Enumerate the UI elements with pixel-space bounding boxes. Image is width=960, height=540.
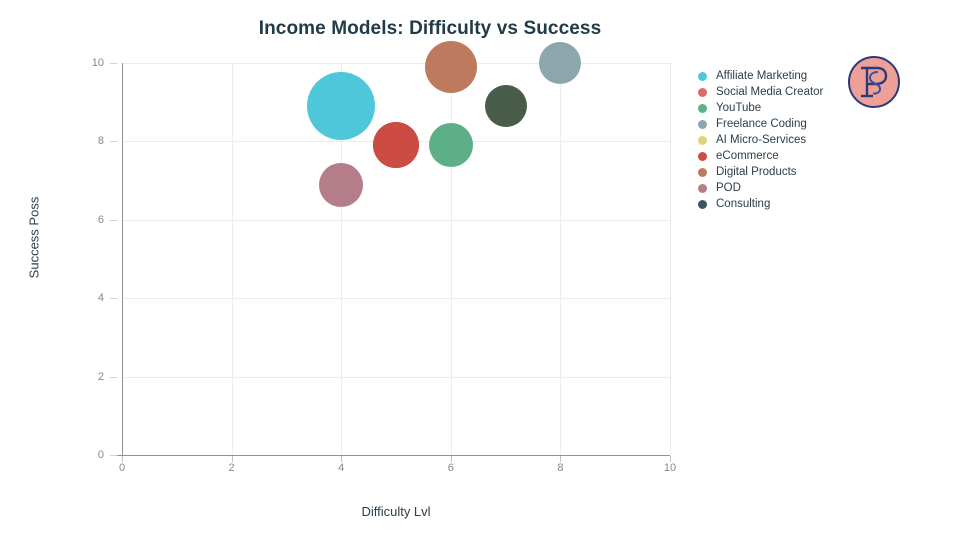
legend-item[interactable]: AI Micro-Services (698, 132, 858, 148)
legend-item[interactable]: Freelance Coding (698, 116, 858, 132)
legend-item[interactable]: Digital Products (698, 164, 858, 180)
y-tick-mark (110, 298, 117, 299)
y-tick-label: 8 (78, 135, 104, 147)
gridline-vertical (451, 63, 452, 455)
legend-item-label: Digital Products (716, 164, 797, 180)
legend-item-label: YouTube (716, 100, 761, 116)
legend-swatch-icon (698, 88, 707, 97)
legend-item-label: AI Micro-Services (716, 132, 806, 148)
gridline-vertical (560, 63, 561, 455)
legend-item[interactable]: Consulting (698, 196, 858, 212)
legend-swatch-icon (698, 136, 707, 145)
bubble-chart: Income Models: Difficulty vs Success 024… (0, 0, 960, 540)
legend-swatch-icon (698, 152, 707, 161)
legend-swatch-icon (698, 168, 707, 177)
legend-item-label: eCommerce (716, 148, 779, 164)
x-tick-mark (560, 456, 561, 462)
gridline-horizontal (122, 63, 670, 64)
x-tick-mark (232, 456, 233, 462)
bubble-point[interactable] (539, 42, 581, 84)
legend-swatch-icon (698, 200, 707, 209)
legend-item[interactable]: Affiliate Marketing (698, 68, 858, 84)
bubble-point[interactable] (429, 123, 473, 167)
y-axis-line (122, 63, 123, 455)
x-tick-mark (341, 456, 342, 462)
x-tick-label: 4 (338, 462, 344, 474)
y-tick-mark (110, 141, 117, 142)
legend-swatch-icon (698, 72, 707, 81)
legend-item[interactable]: POD (698, 180, 858, 196)
legend-item-label: POD (716, 180, 741, 196)
plot-area (122, 63, 670, 455)
legend-item[interactable]: Social Media Creator (698, 84, 858, 100)
bubble-point[interactable] (425, 41, 477, 93)
y-tick-mark (110, 220, 117, 221)
x-tick-mark (451, 456, 452, 462)
gridline-horizontal (122, 377, 670, 378)
gridline-vertical (232, 63, 233, 455)
legend-item[interactable]: eCommerce (698, 148, 858, 164)
y-tick-label: 4 (78, 292, 104, 304)
x-tick-label: 0 (119, 462, 125, 474)
bubble-point[interactable] (319, 163, 363, 207)
legend-item[interactable]: YouTube (698, 100, 858, 116)
x-tick-label: 8 (557, 462, 563, 474)
legend-item-label: Freelance Coding (716, 116, 807, 132)
y-tick-label: 2 (78, 371, 104, 383)
gridline-horizontal (122, 220, 670, 221)
x-tick-mark (122, 456, 123, 462)
x-tick-label: 2 (229, 462, 235, 474)
x-tick-label: 6 (448, 462, 454, 474)
y-tick-mark (110, 377, 117, 378)
chart-title: Income Models: Difficulty vs Success (0, 18, 860, 40)
legend-swatch-icon (698, 104, 707, 113)
x-axis-line (110, 455, 670, 456)
legend-swatch-icon (698, 184, 707, 193)
x-axis-label: Difficulty Lvl (122, 504, 670, 519)
legend-item-label: Consulting (716, 196, 770, 212)
x-tick-label: 10 (664, 462, 676, 474)
y-tick-mark (110, 63, 117, 64)
bubble-point[interactable] (307, 72, 375, 140)
bubble-point[interactable] (485, 85, 527, 127)
x-tick-mark (670, 456, 671, 462)
bubble-point[interactable] (373, 122, 419, 168)
chart-legend: Affiliate MarketingSocial Media CreatorY… (698, 68, 858, 212)
legend-item-label: Affiliate Marketing (716, 68, 807, 84)
monogram-icon (857, 63, 891, 101)
y-axis-label: Success Poss (27, 178, 42, 298)
y-tick-mark (110, 455, 117, 456)
brand-logo-badge (848, 56, 900, 108)
gridline-horizontal (122, 298, 670, 299)
y-tick-label: 10 (78, 57, 104, 69)
y-tick-label: 6 (78, 214, 104, 226)
gridline-vertical (670, 63, 671, 455)
legend-item-label: Social Media Creator (716, 84, 823, 100)
legend-swatch-icon (698, 120, 707, 129)
y-tick-label: 0 (78, 449, 104, 461)
